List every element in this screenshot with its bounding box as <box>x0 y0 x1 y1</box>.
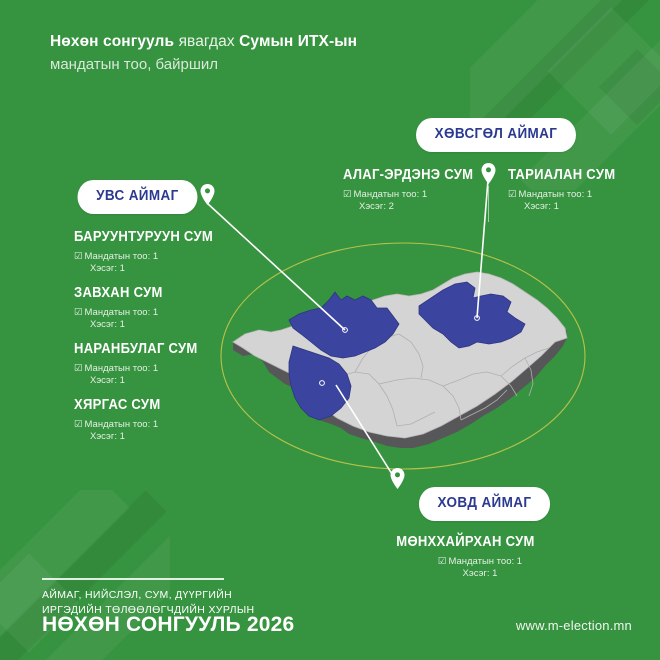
province-badge-uvs[interactable]: УВС АЙМАГ <box>78 180 198 214</box>
sum-mandate-row: ☑Мандатын тоо: 1 <box>343 188 488 202</box>
section-label: Хэсэг: <box>359 201 386 212</box>
mandate-label: Мандатын тоо: <box>448 556 514 567</box>
mandate-value: 1 <box>587 189 592 200</box>
section-label: Хэсэг: <box>90 319 117 330</box>
header-title-part3: Сумын ИТХ-ын <box>239 33 357 50</box>
sum-name: ЗАВХАН СУМ <box>74 286 163 301</box>
mandate-value: 1 <box>153 419 158 430</box>
sum-name: АЛАГ-ЭРДЭНЭ СУМ <box>343 168 473 183</box>
sum-name: БАРУУНТУРУУН СУМ <box>74 230 213 245</box>
footer-divider <box>42 578 224 580</box>
sum-section-row: Хэсэг: 1 <box>74 375 211 388</box>
section-label: Хэсэг: <box>90 375 117 386</box>
sum-block-alag-erdene: АЛАГ-ЭРДЭНЭ СУМ ☑Мандатын тоо: 1 Хэсэг: … <box>343 168 488 214</box>
sum-block-tarialan: ТАРИАЛАН СУМ ☑Мандатын тоо: 1 Хэсэг: 1 <box>508 168 627 214</box>
sum-mandate-row: ☑Мандатын тоо: 1 <box>508 188 627 202</box>
sum-block-zavkhan: ЗАВХАН СУМ ☑Мандатын тоо: 1 Хэсэг: 1 <box>74 286 173 332</box>
section-value: 1 <box>492 568 497 579</box>
section-value: 1 <box>120 263 125 274</box>
checkbox-icon: ☑ <box>508 189 517 200</box>
sum-section-row: Хэсэг: 2 <box>343 201 488 214</box>
mongolia-map <box>215 238 590 478</box>
sum-block-monkhkhairkhan: МӨНХХАЙРХАН СУМ ☑Мандатын тоо: 1 Хэсэг: … <box>387 535 573 581</box>
header-subtitle: мандатын тоо, байршил <box>50 54 570 76</box>
header-title-part2: явагдах <box>179 33 235 50</box>
mandate-label: Мандатын тоо: <box>85 419 151 430</box>
header-title: Нөхөн сонгууль явагдах Сумын ИТХ-ын <box>50 32 570 53</box>
sum-block-khyargas: ХЯРГАС СУМ ☑Мандатын тоо: 1 Хэсэг: 1 <box>74 398 170 444</box>
mandate-value: 1 <box>153 251 158 262</box>
infographic-canvas: Нөхөн сонгууль явагдах Сумын ИТХ-ын манд… <box>0 0 660 660</box>
mandate-label: Мандатын тоо: <box>85 307 151 318</box>
sum-name: ХЯРГАС СУМ <box>74 398 160 413</box>
header-title-part1: Нөхөн сонгууль <box>50 33 174 50</box>
sum-section-row: Хэсэг: 1 <box>387 568 573 581</box>
province-badge-khovd[interactable]: ХОВД АЙМАГ <box>419 487 550 521</box>
mandate-value: 1 <box>153 307 158 318</box>
header: Нөхөн сонгууль явагдах Сумын ИТХ-ын манд… <box>50 32 570 76</box>
sum-mandate-row: ☑Мандатын тоо: 1 <box>74 418 170 432</box>
map-pin-icon-uvs <box>200 184 215 205</box>
sum-block-naranbulag: НАРАНБУЛАГ СУМ ☑Мандатын тоо: 1 Хэсэг: 1 <box>74 342 211 388</box>
section-label: Хэсэг: <box>90 431 117 442</box>
section-value: 2 <box>389 201 394 212</box>
website-url[interactable]: www.m-election.mn <box>516 618 632 633</box>
footer-title: НӨХӨН СОНГУУЛЬ 2026 <box>42 614 294 635</box>
section-label: Хэсэг: <box>463 568 490 579</box>
checkbox-icon: ☑ <box>74 419 83 430</box>
sum-name: МӨНХХАЙРХАН СУМ <box>396 535 563 550</box>
column-divider <box>488 186 489 222</box>
sum-mandate-row: ☑Мандатын тоо: 1 <box>74 362 211 376</box>
sum-mandate-row: ☑Мандатын тоо: 1 <box>74 250 228 264</box>
footer-subtitle-line1: АЙМАГ, НИЙСЛЭЛ, СУМ, ДҮҮРГИЙН <box>42 588 254 603</box>
mandate-value: 1 <box>153 363 158 374</box>
sum-name: ТАРИАЛАН СУМ <box>508 168 615 183</box>
section-label: Хэсэг: <box>524 201 551 212</box>
checkbox-icon: ☑ <box>74 251 83 262</box>
map-landmass <box>233 272 567 438</box>
sum-section-row: Хэсэг: 1 <box>508 201 627 214</box>
mandate-label: Мандатын тоо: <box>354 189 420 200</box>
section-value: 1 <box>120 375 125 386</box>
section-value: 1 <box>120 431 125 442</box>
section-label: Хэсэг: <box>90 263 117 274</box>
checkbox-icon: ☑ <box>343 189 352 200</box>
sum-section-row: Хэсэг: 1 <box>74 263 228 276</box>
sum-section-row: Хэсэг: 1 <box>74 319 173 332</box>
mandate-value: 1 <box>517 556 522 567</box>
mandate-label: Мандатын тоо: <box>85 251 151 262</box>
sum-name: НАРАНБУЛАГ СУМ <box>74 342 198 357</box>
section-value: 1 <box>554 201 559 212</box>
checkbox-icon: ☑ <box>74 307 83 318</box>
mandate-label: Мандатын тоо: <box>85 363 151 374</box>
sum-mandate-row: ☑Мандатын тоо: 1 <box>387 555 573 569</box>
map-pin-icon-khovd <box>390 468 405 489</box>
province-badge-khuvsgul[interactable]: ХӨВСГӨЛ АЙМАГ <box>416 118 576 152</box>
mandate-label: Мандатын тоо: <box>519 189 585 200</box>
sum-block-baruunturuun: БАРУУНТУРУУН СУМ ☑Мандатын тоо: 1 Хэсэг:… <box>74 230 228 276</box>
sum-section-row: Хэсэг: 1 <box>74 431 170 444</box>
mandate-value: 1 <box>422 189 427 200</box>
decorative-chevrons-top-right <box>470 0 660 190</box>
checkbox-icon: ☑ <box>74 363 83 374</box>
section-value: 1 <box>120 319 125 330</box>
checkbox-icon: ☑ <box>438 556 447 567</box>
sum-mandate-row: ☑Мандатын тоо: 1 <box>74 306 173 320</box>
